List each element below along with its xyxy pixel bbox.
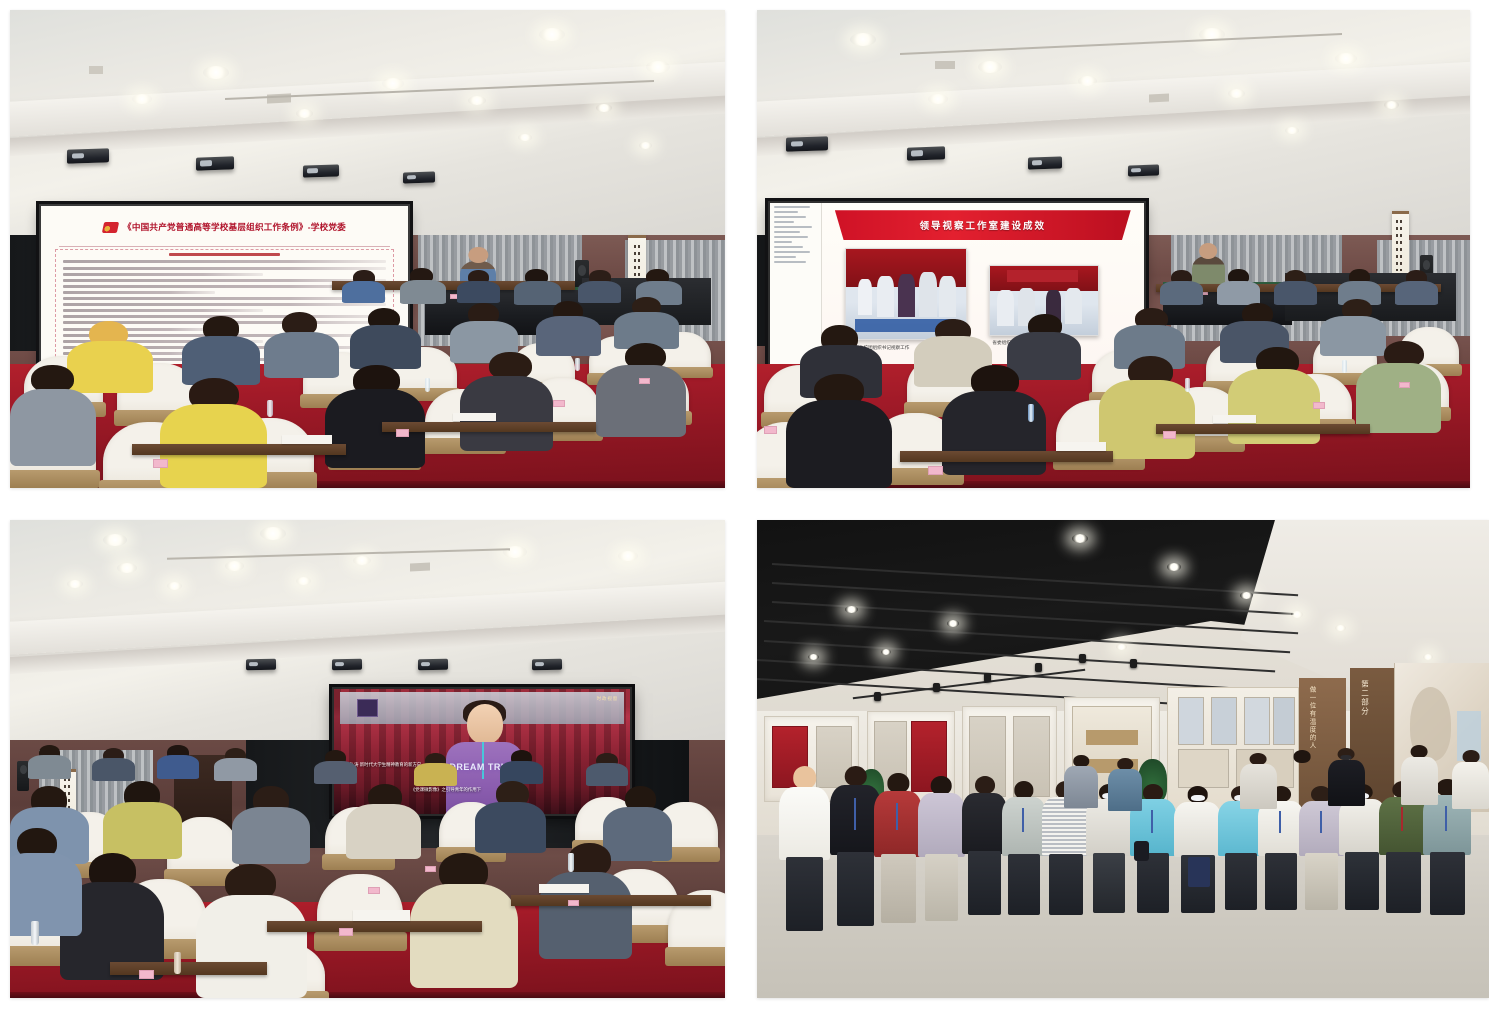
track-light	[1130, 659, 1137, 668]
ceiling-spotlight	[1291, 611, 1303, 618]
visitor	[1064, 755, 1098, 827]
downlight	[132, 94, 152, 104]
panel-lecture-hall-party-regulations: 《中国共产党普通高等学校基层组织工作条例》-学校党委	[10, 10, 725, 488]
visitor	[1002, 781, 1046, 915]
downlight	[1078, 76, 1097, 86]
nameplate	[1313, 402, 1325, 409]
downlight	[67, 580, 83, 588]
nameplate	[396, 429, 409, 437]
audience-area	[10, 268, 725, 488]
downlight	[1228, 89, 1245, 98]
nameplate	[1163, 431, 1176, 439]
projector	[303, 164, 339, 177]
ceiling-rail	[900, 33, 1342, 55]
panel-lecture-hall-studio-achievements: 领导视察工作室建设成效	[757, 10, 1470, 488]
navy-tote-bag	[1188, 857, 1210, 887]
guide-person[interactable]	[779, 766, 830, 931]
track-light	[933, 683, 940, 692]
nameplate	[1399, 382, 1410, 388]
nameplate	[568, 900, 579, 906]
downlight	[103, 534, 127, 546]
track-light	[874, 692, 881, 701]
downlight	[468, 96, 486, 105]
visitor	[1240, 753, 1277, 830]
nameplate	[368, 887, 380, 894]
visitor	[1328, 748, 1365, 828]
ceiling-spotlight	[1167, 563, 1181, 571]
audience-area	[757, 268, 1470, 488]
panel-exhibition-hall-group-visit: 做一位有温度的人 第二部分	[757, 520, 1489, 998]
downlight	[203, 66, 229, 79]
projector	[246, 658, 276, 670]
ceiling-spotlight	[1423, 654, 1433, 660]
downlight	[618, 551, 638, 561]
ceiling-spotlight	[845, 606, 858, 613]
nameplate	[928, 466, 943, 475]
projector	[1128, 164, 1159, 176]
slide-banner-title: 领导视察工作室建设成效	[920, 218, 1047, 232]
projector	[1028, 156, 1062, 169]
nameplate	[425, 866, 436, 872]
ceiling-vent	[935, 61, 955, 69]
ceiling-spotlight	[1240, 592, 1253, 599]
slide-banner: 领导视察工作室建设成效	[835, 210, 1131, 240]
section-label: 第二部分	[1360, 680, 1369, 716]
visitor	[918, 776, 965, 921]
nameplate	[553, 400, 565, 407]
downlight	[928, 94, 948, 104]
downlight	[353, 556, 371, 565]
ceiling-vent	[410, 562, 430, 571]
ceiling-spotlight	[808, 654, 819, 660]
downlight	[978, 61, 1002, 73]
ceiling-vent	[1149, 93, 1169, 102]
ceiling-rail	[167, 549, 510, 561]
projector	[907, 146, 945, 160]
visitor	[1401, 745, 1438, 828]
track-light	[984, 673, 991, 682]
nameplate	[764, 426, 777, 434]
downlight	[518, 134, 532, 141]
projector	[403, 172, 435, 184]
visitor	[1452, 750, 1489, 830]
downlight	[850, 33, 876, 46]
nameplate	[153, 459, 168, 468]
downlight	[117, 563, 137, 573]
downlight	[296, 577, 311, 585]
track-light	[1079, 654, 1086, 663]
visitor	[1284, 750, 1321, 827]
slide-title-row: 《中国共产党普通高等学校基层组织工作条例》-学校党委	[41, 211, 409, 245]
projector	[532, 658, 562, 670]
visitor	[874, 773, 922, 923]
nameplate	[639, 378, 650, 384]
visitor	[962, 776, 1007, 915]
projector	[418, 658, 448, 670]
visitor	[1108, 758, 1142, 830]
panel-lecture-hall-video-playback: DREAM TRUE 史 涛 新时代大学生精神教育的新方向 《党课微影像》之引导…	[10, 520, 725, 998]
downlight	[539, 28, 565, 41]
audience-area	[10, 740, 725, 998]
slide-title: 《中国共产党普通高等学校基层组织工作条例》-学校党委	[123, 221, 346, 233]
projector	[332, 658, 362, 670]
visitor	[1174, 786, 1221, 912]
downlight	[596, 104, 612, 112]
party-flag-emblem-icon	[102, 222, 119, 233]
downlight	[1335, 53, 1357, 64]
photo-collage: 《中国共产党普通高等学校基层组织工作条例》-学校党委	[0, 0, 1489, 1021]
projector	[786, 136, 828, 151]
projector	[67, 149, 109, 164]
downlight	[1285, 127, 1299, 134]
downlight	[639, 142, 652, 149]
projector	[196, 156, 234, 170]
downlight	[260, 527, 286, 540]
ceiling-vent	[89, 66, 103, 74]
downlight	[167, 582, 182, 590]
downlight	[296, 109, 313, 118]
video-channel-logo: 时政视窗	[597, 696, 619, 702]
downlight	[225, 561, 244, 571]
track-light	[1035, 663, 1042, 672]
shoulder-bag	[1134, 841, 1149, 862]
nameplate	[339, 928, 353, 936]
nameplate	[139, 970, 154, 979]
visitor-crowd	[757, 740, 1489, 998]
downlight	[646, 61, 670, 73]
